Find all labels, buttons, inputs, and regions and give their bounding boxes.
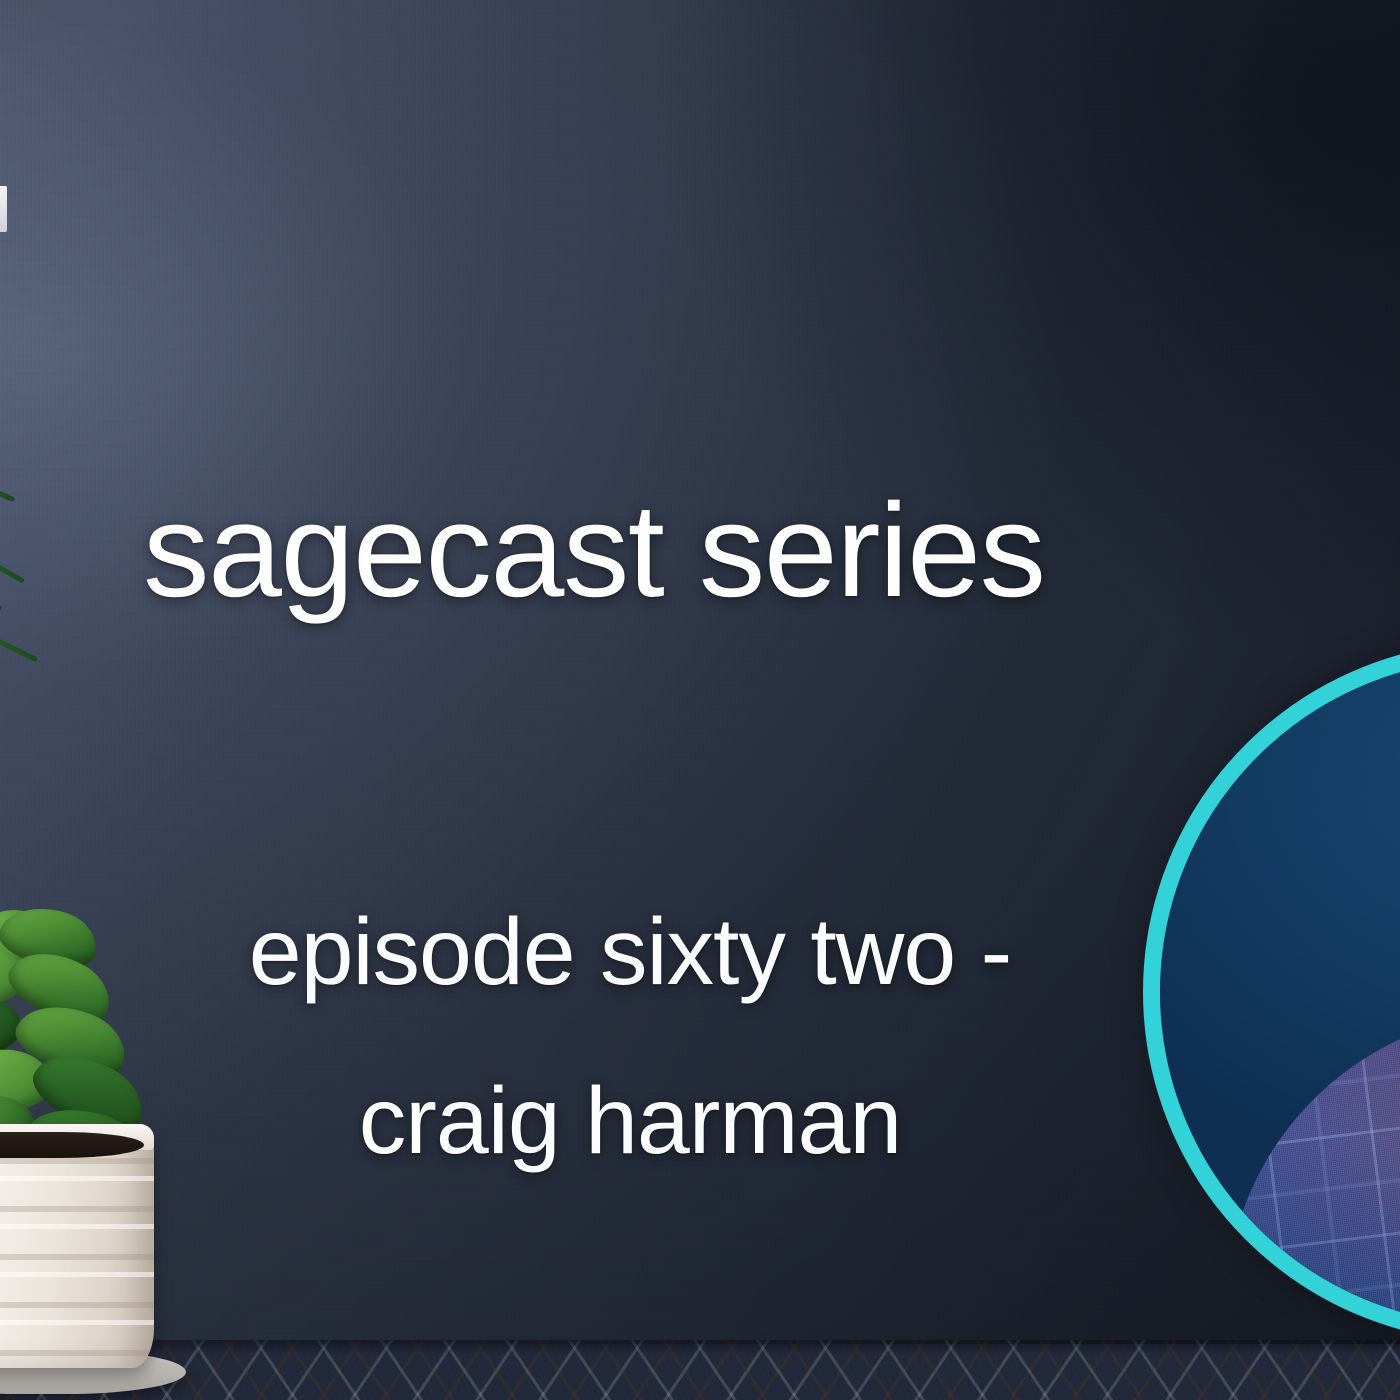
episode-subtitle-line-1: episode sixty two - xyxy=(100,868,1160,1037)
cover-art-canvas: sagecast series episode sixty two - crai… xyxy=(0,0,1400,1400)
pot-ribbing xyxy=(0,1128,154,1368)
episode-subtitle: episode sixty two - craig harman xyxy=(100,868,1160,1206)
frond xyxy=(0,615,38,662)
potted-succulent-plant xyxy=(0,905,234,1400)
frond xyxy=(0,594,2,610)
ceramic-pot xyxy=(0,1128,154,1368)
leafy-plant xyxy=(0,470,72,710)
page-title: sagecast series xyxy=(143,484,1373,620)
frond xyxy=(0,533,25,583)
episode-subtitle-line-2: craig harman xyxy=(100,1037,1160,1206)
white-edge-sliver xyxy=(0,186,7,232)
